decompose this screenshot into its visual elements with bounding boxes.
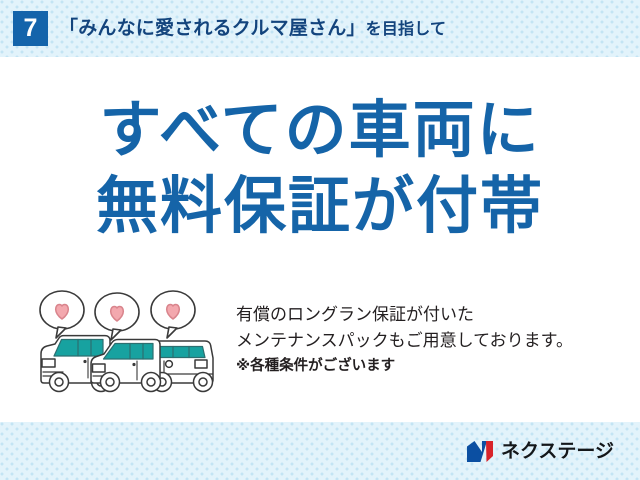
note-line-2: メンテナンスパックもご用意しております。 bbox=[236, 328, 640, 354]
lower-content: 有償のロングラン保証が付いた メンテナンスパックもご用意しております。 ※各種条… bbox=[0, 288, 640, 408]
three-cars-with-heart-bubbles-illustration bbox=[33, 288, 233, 400]
illustration-column bbox=[0, 288, 236, 405]
section-number-badge: 7 bbox=[13, 11, 48, 46]
headline-block: すべての車両に 無料保証が付帯 bbox=[0, 96, 640, 242]
headline-line-2: 無料保証が付帯 bbox=[0, 172, 640, 241]
promo-banner: 7 「みんなに愛されるクルマ屋さん」を目指して すべての車両に 無料保証が付帯 bbox=[0, 0, 640, 480]
header-title-tail: を目指して bbox=[366, 21, 447, 38]
header-title-quoted: 「みんなに愛されるクルマ屋さん」 bbox=[59, 18, 366, 39]
header-title: 「みんなに愛されるクルマ屋さん」を目指して bbox=[59, 19, 446, 38]
headline-line-1: すべての車両に bbox=[0, 96, 640, 165]
banner-header: 7 「みんなに愛されるクルマ屋さん」を目指して bbox=[0, 0, 640, 57]
nextage-n-logo-icon bbox=[466, 440, 494, 463]
notes-column: 有償のロングラン保証が付いた メンテナンスパックもご用意しております。 ※各種条… bbox=[236, 288, 640, 377]
note-line-1: 有償のロングラン保証が付いた bbox=[236, 302, 640, 328]
brand-logo-text: ネクステージ bbox=[501, 442, 614, 461]
brand-logo: ネクステージ bbox=[466, 440, 614, 463]
note-line-3: ※各種条件がございます bbox=[236, 355, 640, 377]
